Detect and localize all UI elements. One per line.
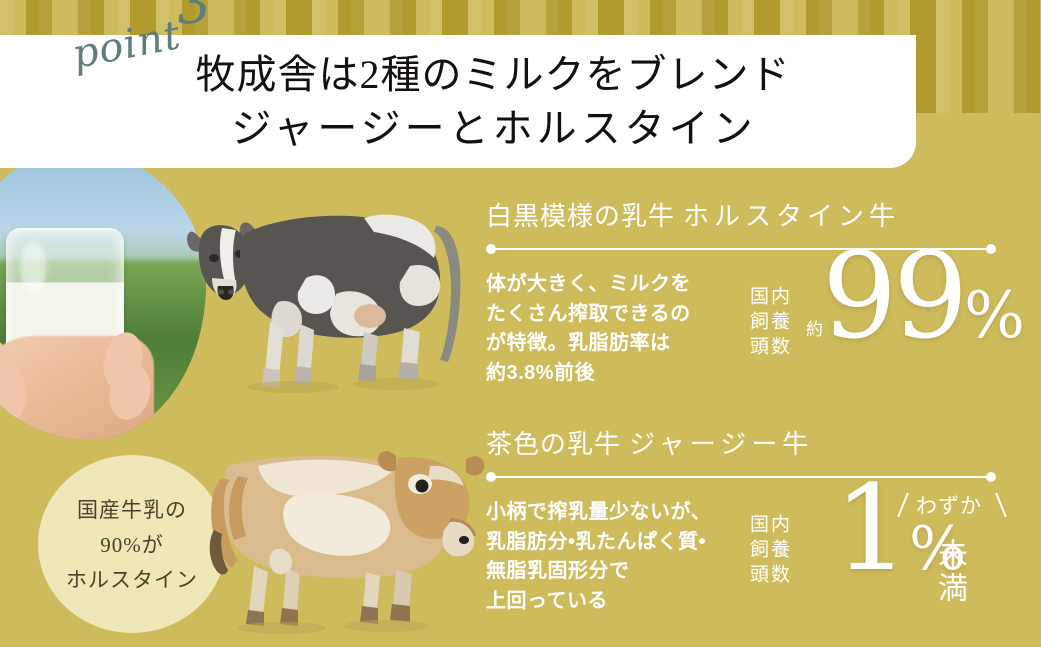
badge-line-1: 国産牛乳の [77, 494, 187, 524]
section-heading-jersey: 茶色の乳牛ジャージー牛 [486, 424, 1006, 461]
section-jersey: 茶色の乳牛ジャージー牛 小柄で搾乳量少ないが、 乳脂肪分•乳たんぱく質• 無脂乳… [486, 424, 1006, 638]
stat-label-col-2: 内養数 [769, 514, 788, 589]
holstein-cow-illustration [178, 182, 478, 397]
stat-value-holstein: 99% [822, 246, 1021, 347]
badge-line-2: 90%が [100, 529, 164, 559]
milk-glass-photo [0, 150, 206, 440]
jersey-cow-illustration [198, 436, 498, 636]
section-body-holstein: 体が大きく、ミルクを たくさん搾取できるの が特徴。乳脂肪率は 約3.8%前後 … [486, 270, 1006, 410]
divider-dot-right [986, 472, 996, 482]
stat-jersey: 国飼頭 内養数 わずか 1% 未満 [748, 492, 1008, 632]
description-jersey: 小柄で搾乳量少ないが、 乳脂肪分•乳たんぱく質• 無脂乳固形分で 上回っている [486, 498, 754, 616]
section-holstein: 白黒模様の乳牛ホルスタイン牛 体が大きく、ミルクを たくさん搾取できるの が特徴… [486, 196, 1006, 410]
stat-unit: % [964, 279, 1021, 353]
stat-vertical-label: 国飼頭 内養数 [748, 514, 788, 589]
stat-label-col-1: 国飼頭 [748, 514, 767, 589]
stat-vertical-label: 国飼頭 内養数 [748, 286, 788, 361]
infographic-canvas: 牧成舎は2種のミルクをブレンド ジャージーとホルスタイン point3 国産牛乳… [0, 0, 1041, 647]
stat-label-col-1: 国飼頭 [748, 286, 767, 361]
heading-prefix: 茶色の乳牛 [486, 430, 621, 459]
stat-number: 99 [822, 227, 964, 365]
title-line-1: 牧成舎は2種のミルクをブレンド [106, 49, 791, 100]
heading-brand: ジャージー牛 [629, 430, 813, 459]
stat-label-col-2: 内養数 [769, 286, 788, 361]
description-holstein: 体が大きく、ミルクを たくさん搾取できるの が特徴。乳脂肪率は 約3.8%前後 [486, 270, 754, 388]
title-card: 牧成舎は2種のミルクをブレンド ジャージーとホルスタイン [0, 35, 916, 168]
title-line-2: ジャージーとホルスタイン [139, 103, 756, 154]
stat-suffix-jersey: 未満 [934, 538, 964, 606]
stat-holstein: 国飼頭 内養数 約 99% [748, 264, 1008, 404]
section-body-jersey: 小柄で搾乳量少ないが、 乳脂肪分•乳たんぱく質• 無脂乳固形分で 上回っている … [486, 498, 1006, 638]
badge-line-3: ホルスタイン [66, 564, 198, 594]
slash-right-icon [995, 493, 1007, 518]
heading-prefix: 白黒模様の乳牛 [486, 202, 675, 231]
stat-number: 1 [834, 459, 909, 597]
page-title: 牧成舎は2種のミルクをブレンド ジャージーとホルスタイン [0, 35, 916, 168]
